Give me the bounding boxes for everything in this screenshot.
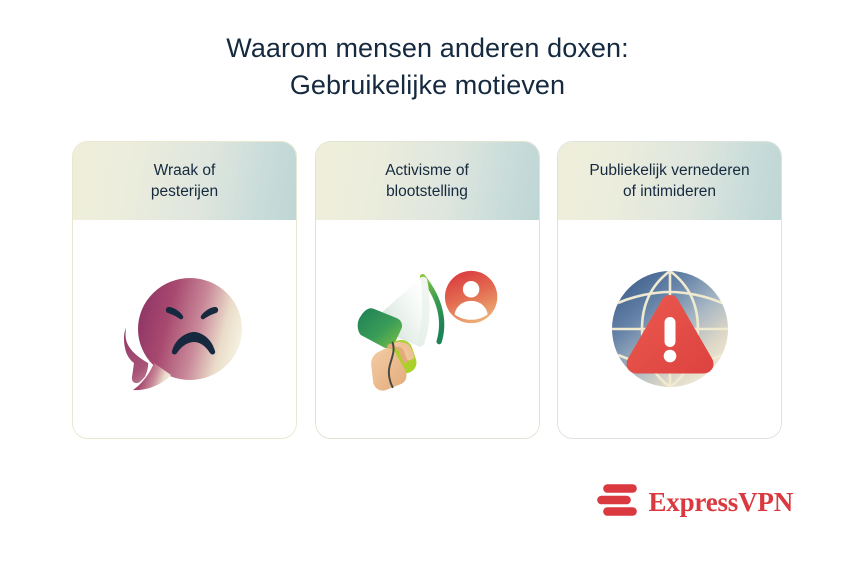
motives-card-row: Wraak of pesterijen: [72, 141, 782, 439]
page-title-line-2: Gebruikelijke motieven: [0, 67, 855, 104]
card-body-public-shaming: [558, 220, 781, 438]
motive-card-activism: Activisme of blootstelling: [315, 141, 540, 439]
expressvpn-logo-mark: [596, 482, 638, 523]
exclamation-bar: [664, 317, 675, 347]
card-header-activism-line-1: Activisme of: [385, 160, 469, 181]
expressvpn-logo-text: ExpressVPN: [648, 487, 793, 518]
expressvpn-logo[interactable]: ExpressVPN: [596, 482, 793, 523]
card-header-public-shaming-line-1: Publiekelijk vernederen: [589, 160, 749, 181]
card-header-activism: Activisme of blootstelling: [316, 142, 539, 220]
card-header-public-shaming-line-2: of intimideren: [589, 181, 749, 202]
card-header-text-revenge: Wraak of pesterijen: [151, 160, 218, 202]
angry-speech-bubbles-icon: [105, 249, 265, 409]
person-avatar-icon: [445, 271, 497, 323]
card-header-revenge-line-1: Wraak of: [151, 160, 218, 181]
motive-card-public-shaming: Publiekelijk vernederen of intimideren: [557, 141, 782, 439]
exclamation-dot: [663, 350, 676, 363]
globe-warning-icon: [590, 249, 750, 409]
motive-card-revenge: Wraak of pesterijen: [72, 141, 297, 439]
card-header-public-shaming: Publiekelijk vernederen of intimideren: [558, 142, 781, 220]
card-body-activism: [316, 220, 539, 438]
page-title: Waarom mensen anderen doxen: Gebruikelij…: [0, 30, 855, 104]
megaphone-icon: [347, 249, 507, 409]
card-header-revenge-line-2: pesterijen: [151, 181, 218, 202]
card-header-activism-line-2: blootstelling: [385, 181, 469, 202]
card-header-revenge: Wraak of pesterijen: [73, 142, 296, 220]
page-title-line-1: Waarom mensen anderen doxen:: [0, 30, 855, 67]
card-header-text-activism: Activisme of blootstelling: [385, 160, 469, 202]
card-body-revenge: [73, 220, 296, 438]
card-header-text-public-shaming: Publiekelijk vernederen of intimideren: [589, 160, 749, 202]
